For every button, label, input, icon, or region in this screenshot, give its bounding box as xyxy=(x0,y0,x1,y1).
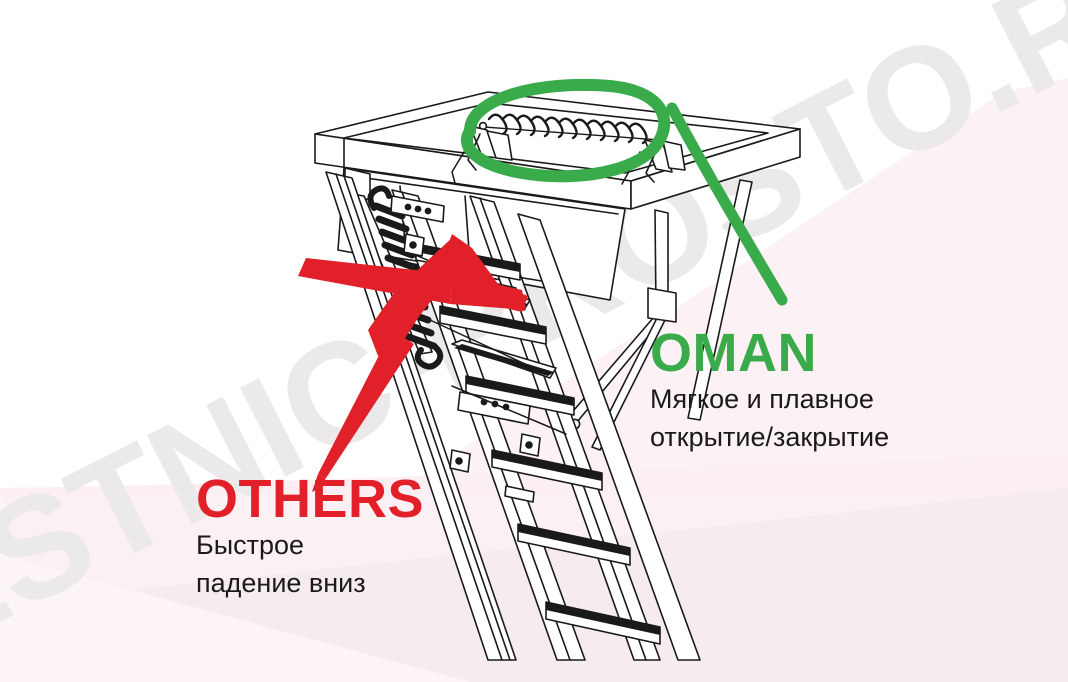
red-arrow-tail xyxy=(318,330,414,478)
callout-others: OTHERS Быстрое падение вниз xyxy=(196,472,424,603)
others-title: OTHERS xyxy=(196,472,424,526)
others-subtitle-line-2: падение вниз xyxy=(196,564,424,602)
oman-title: OMAN xyxy=(650,326,889,380)
oman-subtitle: Мягкое и плавное открытие/закрытие xyxy=(650,380,889,457)
others-subtitle: Быстрое падение вниз xyxy=(196,526,424,603)
red-arrow-group xyxy=(298,234,528,492)
oman-subtitle-line-1: Мягкое и плавное xyxy=(650,380,889,418)
callout-oman: OMAN Мягкое и плавное открытие/закрытие xyxy=(650,326,889,457)
others-subtitle-line-1: Быстрое xyxy=(196,526,424,564)
oman-subtitle-line-2: открытие/закрытие xyxy=(650,418,889,456)
illustration-canvas: LESTNIC-PROSTO.RU xyxy=(0,0,1068,682)
red-arrow-annotation xyxy=(0,0,1068,682)
